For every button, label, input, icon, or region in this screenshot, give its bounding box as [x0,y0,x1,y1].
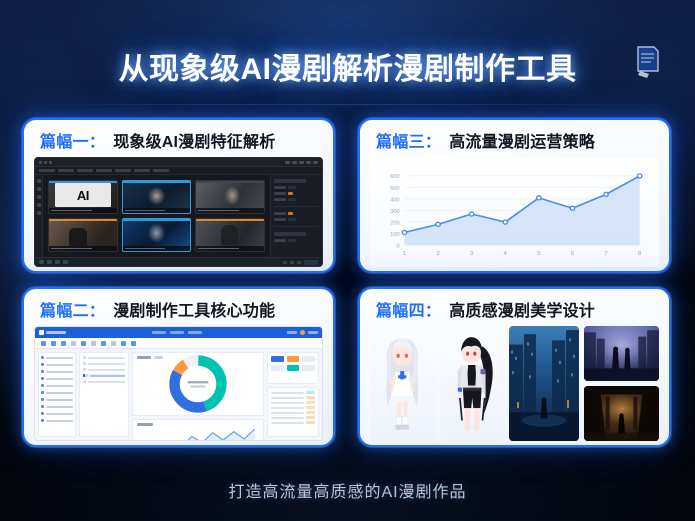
dashboard-toolbar [35,338,322,349]
page-footer-tagline: 打造高流量高质感的AI漫剧作品 [0,478,695,502]
svg-text:3: 3 [470,251,474,257]
thumbnail-item [122,218,192,252]
svg-text:300: 300 [390,209,399,215]
card-two-body [24,326,333,447]
editor-statusbar [35,257,322,266]
card-section-three[interactable]: 篇幅三： 高流量漫剧运营策略 0100200300400500600 12345… [358,118,671,273]
svg-text:6: 6 [571,251,575,257]
editor-main: AI [35,175,322,257]
data-table-card [267,387,319,437]
donut-chart [167,353,229,415]
card-two-header: 篇幅二： 漫剧制作工具核心功能 [24,289,333,326]
svg-text:400: 400 [390,197,399,203]
editor-window-dots [39,161,52,164]
editor-thumbnail-grid: AI [43,175,270,257]
svg-text:200: 200 [390,221,399,227]
card-one-title: 现象级AI漫剧特征解析 [113,128,275,152]
chart-point [503,220,507,224]
card-one-header: 篇幅一： 现象级AI漫剧特征解析 [24,120,333,157]
card-section-two[interactable]: 篇幅二： 漫剧制作工具核心功能 [22,287,335,447]
svg-text:0: 0 [397,244,400,250]
scene-dark-hall [584,386,659,441]
card-section-four[interactable]: 篇幅四： 高质感漫剧美学设计 [358,287,671,447]
svg-text:8: 8 [638,251,642,257]
chart-point [469,212,473,216]
dashboard-main-column [132,352,264,437]
card-one-kicker: 篇幅一： [40,128,105,152]
dashboard-mock [34,326,323,441]
dashboard-user-area [287,330,318,335]
card-one-body: AI [24,157,333,273]
thumbnail-item [122,180,192,214]
chart-point [570,206,574,210]
thumbnail-item: AI [48,180,118,214]
character-illustration-ponytail [440,326,505,441]
chart-x-axis-labels: 12345678 [403,251,642,257]
svg-text:4: 4 [504,251,508,257]
editor-properties-panel [270,175,322,257]
thumbnail-item [195,180,265,214]
background-light-streak [0,104,695,105]
thumbnail-item [48,218,118,252]
character-illustration-white [370,326,435,441]
dashboard-body [35,349,322,440]
chart-point [436,222,440,226]
card-four-body [360,326,669,447]
line-chart-card [132,419,264,441]
thumbnail-ai-label: AI [55,183,111,207]
card-three-kicker: 篇幅三： [376,128,441,152]
dashboard-list-panel [79,352,129,437]
mini-line-chart [135,422,261,441]
svg-text:100: 100 [390,232,399,238]
editor-window-controls [285,161,318,164]
svg-text:500: 500 [390,186,399,192]
trend-area-chart: 0100200300400500600 12345678 [376,163,651,263]
card-two-title: 漫剧制作工具核心功能 [113,297,275,321]
editor-left-rail [35,175,43,257]
dashboard-topbar [35,327,322,338]
card-four-header: 篇幅四： 高质感漫剧美学设计 [360,289,669,326]
chart-point [604,192,608,196]
card-two-kicker: 篇幅二： [40,297,105,321]
dashboard-logo [39,330,66,335]
chart-point [402,230,406,234]
chart-y-axis-labels: 0100200300400500600 [390,174,399,249]
scene-rainy-city [509,326,579,441]
thumbnail-item [195,218,265,252]
card-three-title: 高流量漫剧运营策略 [449,128,595,152]
video-editor-mock: AI [34,157,323,267]
svg-text:600: 600 [390,174,399,180]
art-gallery [370,326,659,441]
donut-chart-card [132,352,264,416]
chart-point [637,174,641,178]
chart-point [537,196,541,200]
stats-grid-card [267,352,319,384]
editor-titlebar [35,158,322,167]
dashboard-nav [152,331,202,334]
scene-two-figures [584,326,659,381]
trend-chart-container: 0100200300400500600 12345678 [370,157,659,267]
svg-text:2: 2 [436,251,440,257]
scene-thumbnails [509,326,659,441]
svg-text:7: 7 [604,251,608,257]
card-three-header: 篇幅三： 高流量漫剧运营策略 [360,120,669,157]
dashboard-sidebar [38,352,76,437]
svg-text:5: 5 [537,251,541,257]
card-three-body: 0100200300400500600 12345678 [360,157,669,273]
card-section-one[interactable]: 篇幅一： 现象级AI漫剧特征解析 AI [22,118,335,273]
card-four-kicker: 篇幅四： [376,297,441,321]
editor-menubar [35,167,322,175]
dashboard-right-column [267,352,319,437]
svg-text:1: 1 [403,251,407,257]
page-title: 从现象级AI漫剧解析漫剧制作工具 [0,44,695,88]
card-four-title: 高质感漫剧美学设计 [449,297,595,321]
